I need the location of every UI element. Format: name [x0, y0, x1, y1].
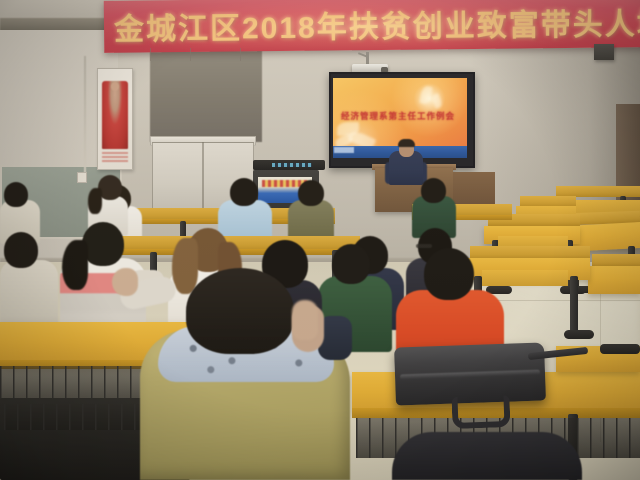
raised-hand [292, 300, 318, 340]
wall-recess [150, 50, 262, 142]
attendee-hand [112, 268, 138, 296]
av-rack-indicator-lights [272, 163, 312, 167]
briefcase-handle-icon [451, 395, 510, 429]
presenter-hair [398, 139, 415, 147]
wall-cable [84, 56, 86, 174]
cabinet-door-split [202, 142, 204, 214]
glasses-icon [416, 244, 432, 248]
red-event-banner: 金城江区2018年扶贫创业致富带头人培训 [104, 0, 640, 53]
banner-text: 金城江区2018年扶贫创业致富带头人培训 [114, 0, 640, 49]
banner-hooks [150, 48, 270, 62]
wall-speaker-icon [594, 44, 614, 60]
poster-caption [102, 152, 128, 162]
lecture-hall-photo: 金城江区2018年扶贫创业致富带头人培训 经济管理系第主任工作例会 [0, 0, 640, 480]
slide-footer-tab [334, 147, 354, 153]
poster-figure [102, 81, 128, 149]
wall-socket [77, 172, 87, 183]
wall-poster [97, 68, 133, 170]
poster-figure-head [111, 82, 119, 91]
slide-title: 经济管理系第主任工作例会 [341, 110, 461, 122]
